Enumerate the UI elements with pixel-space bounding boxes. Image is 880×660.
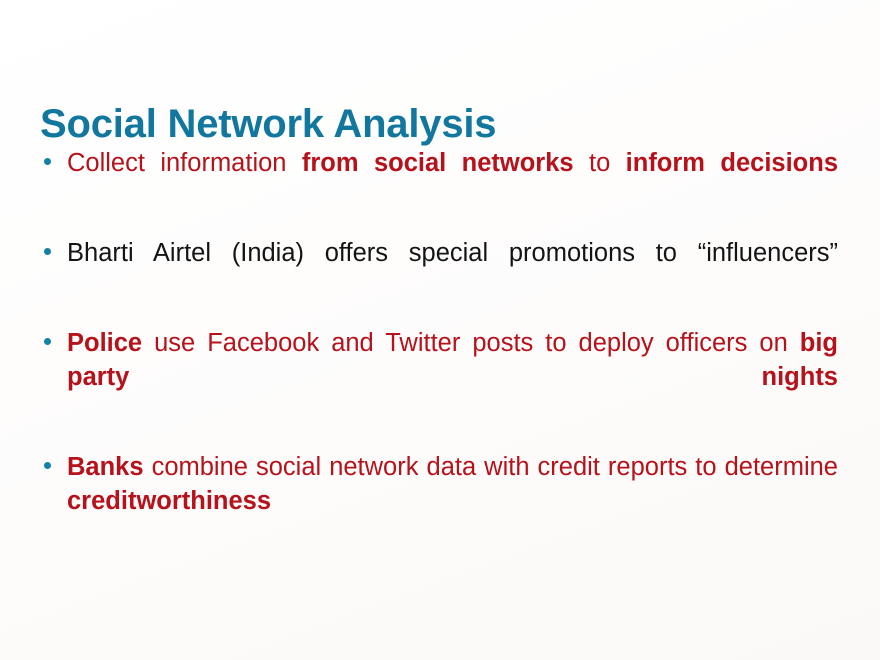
text-run: to (574, 149, 626, 177)
bullet-collect-information: Collect information from social networks… (67, 146, 838, 214)
text-run: Bharti Airtel (India) offers special pro… (67, 239, 838, 267)
bullet-dot-icon (44, 158, 51, 165)
bullet-bharti-airtel: Bharti Airtel (India) offers special pro… (67, 236, 838, 304)
text-run: inform decisions (626, 149, 838, 177)
list-item: Police use Facebook and Twitter posts to… (40, 326, 838, 428)
list-item: Collect information from social networks… (40, 146, 838, 214)
page-title: Social Network Analysis (40, 101, 840, 147)
text-run: Banks (67, 453, 144, 481)
bullet-dot-icon (44, 462, 51, 469)
text-run: combine social network data with credit … (144, 453, 838, 481)
bullet-banks: Banks combine social network data with c… (67, 450, 838, 552)
bullet-police: Police use Facebook and Twitter posts to… (67, 326, 838, 428)
list-item: Bharti Airtel (India) offers special pro… (40, 236, 838, 304)
text-run: creditworthiness (67, 487, 271, 515)
bullet-dot-icon (44, 248, 51, 255)
list-item: Banks combine social network data with c… (40, 450, 838, 552)
bullet-dot-icon (44, 338, 51, 345)
text-run: from social networks (302, 149, 574, 177)
text-run: Collect information (67, 149, 302, 177)
text-run: use Facebook and Twitter posts to deploy… (142, 329, 800, 357)
text-run: Police (67, 329, 142, 357)
bullet-list: Collect information from social networks… (40, 146, 838, 552)
slide-canvas: Social Network Analysis Collect informat… (0, 0, 880, 660)
